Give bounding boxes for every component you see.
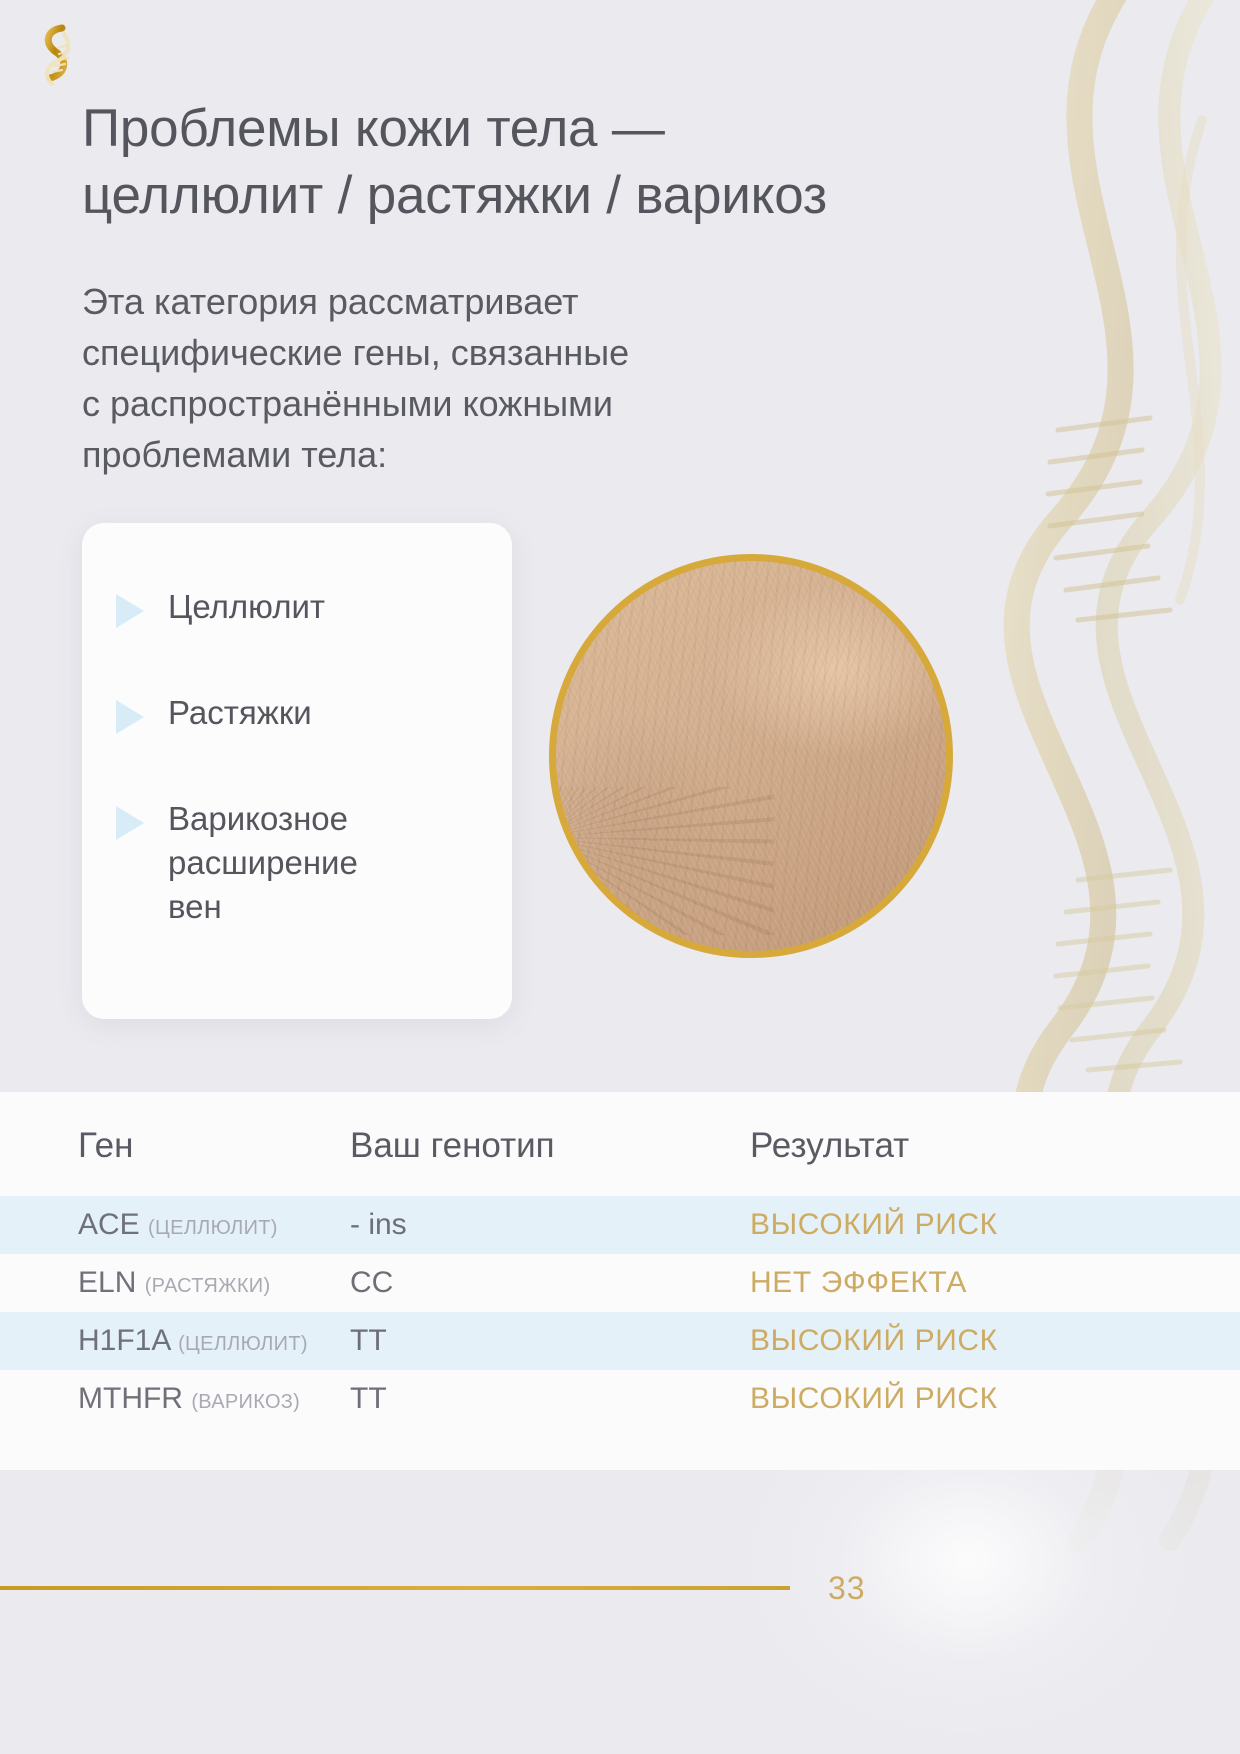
cell-gene: MTHFR (ВАРИКОЗ) (0, 1370, 350, 1428)
cell-result: ВЫСОКИЙ РИСК (750, 1312, 1240, 1370)
gene-tag: (ЦЕЛЛЮЛИТ) (148, 1217, 278, 1239)
list-item-label: Растяжки (168, 691, 312, 735)
gene-results-table: Ген Ваш генотип Результат ACE (ЦЕЛЛЮЛИТ)… (0, 1092, 1240, 1470)
cellulite-skin-photo (549, 554, 953, 958)
conditions-list: Целлюлит Растяжки Варикозное расширение … (116, 585, 478, 928)
triangle-right-icon (116, 594, 144, 628)
page-number: 33 (828, 1570, 866, 1607)
cell-gene: ELN (РАСТЯЖКИ) (0, 1254, 350, 1312)
page-footer: 33 (0, 1558, 1240, 1618)
dna-helix-icon (28, 20, 86, 92)
gene-tag: (РАСТЯЖКИ) (145, 1275, 271, 1297)
cell-genotype: TT (350, 1370, 750, 1428)
gene-name: MTHFR (78, 1382, 183, 1415)
cell-gene: ACE (ЦЕЛЛЮЛИТ) (0, 1196, 350, 1254)
list-item: Целлюлит (116, 585, 478, 629)
table-header-row: Ген Ваш генотип Результат (0, 1092, 1240, 1196)
cell-result: ВЫСОКИЙ РИСК (750, 1370, 1240, 1428)
cell-gene: H1F1A (ЦЕЛЛЮЛИТ) (0, 1312, 350, 1370)
column-header-genotype: Ваш генотип (350, 1092, 750, 1196)
list-item-label: Целлюлит (168, 585, 325, 629)
cell-result: ВЫСОКИЙ РИСК (750, 1196, 1240, 1254)
conditions-card: Целлюлит Растяжки Варикозное расширение … (82, 523, 512, 1019)
list-item-label: Варикозное расширение вен (168, 797, 358, 929)
table-row: ACE (ЦЕЛЛЮЛИТ) - ins ВЫСОКИЙ РИСК (0, 1196, 1240, 1254)
gene-name: H1F1A (78, 1324, 170, 1357)
gene-tag: (ВАРИКОЗ) (191, 1391, 300, 1413)
list-item: Растяжки (116, 691, 478, 735)
gene-name: ACE (78, 1208, 140, 1241)
page-title: Проблемы кожи тела — целлюлит / растяжки… (82, 96, 962, 230)
cell-genotype: TT (350, 1312, 750, 1370)
page-header: Проблемы кожи тела — целлюлит / растяжки… (82, 96, 962, 480)
column-header-result: Результат (750, 1092, 1240, 1196)
footer-divider (0, 1586, 790, 1590)
table-row: MTHFR (ВАРИКОЗ) TT ВЫСОКИЙ РИСК (0, 1370, 1240, 1428)
triangle-right-icon (116, 806, 144, 840)
table-bottom-spacer (0, 1428, 1240, 1470)
gene-name: ELN (78, 1266, 136, 1299)
gene-tag: (ЦЕЛЛЮЛИТ) (178, 1333, 308, 1355)
skin-crease (549, 787, 774, 935)
column-header-gene: Ген (0, 1092, 350, 1196)
table-row: H1F1A (ЦЕЛЛЮЛИТ) TT ВЫСОКИЙ РИСК (0, 1312, 1240, 1370)
triangle-right-icon (116, 700, 144, 734)
list-item: Варикозное расширение вен (116, 797, 478, 929)
cell-result: НЕТ ЭФФЕКТА (750, 1254, 1240, 1312)
table-row: ELN (РАСТЯЖКИ) CC НЕТ ЭФФЕКТА (0, 1254, 1240, 1312)
cell-genotype: CC (350, 1254, 750, 1312)
page-subtitle: Эта категория рассматривает специфически… (82, 276, 782, 480)
cell-genotype: - ins (350, 1196, 750, 1254)
